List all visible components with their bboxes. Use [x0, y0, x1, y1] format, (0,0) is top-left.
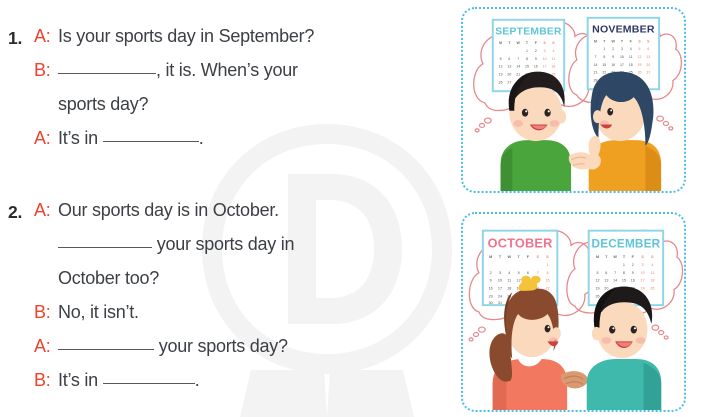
utterance-text: Our sports day is in October.: [58, 200, 279, 221]
illustration-panels: SEPTEMBER MTW TF SS 1234 567891011 12131…: [455, 0, 701, 417]
utterance-text: sports day?: [58, 94, 148, 115]
utterance-text: your sports day in: [58, 234, 294, 255]
svg-text:17: 17: [498, 286, 502, 290]
svg-text:15: 15: [622, 279, 626, 283]
utterance-text: No, it isn’t.: [58, 302, 139, 323]
svg-text:5: 5: [500, 57, 502, 61]
speaker-label: A:: [34, 200, 58, 221]
svg-text:M: M: [596, 255, 599, 259]
svg-text:23: 23: [489, 294, 493, 298]
svg-text:17: 17: [543, 65, 547, 69]
svg-text:27: 27: [507, 80, 511, 84]
svg-text:10: 10: [498, 279, 502, 283]
speaker-label: A:: [34, 26, 58, 47]
answer-blank[interactable]: [58, 349, 154, 350]
svg-text:13: 13: [507, 65, 511, 69]
svg-text:30: 30: [489, 301, 493, 305]
svg-text:17: 17: [620, 63, 624, 67]
svg-text:21: 21: [594, 71, 598, 75]
svg-text:24: 24: [498, 294, 502, 298]
svg-text:24: 24: [641, 286, 645, 290]
svg-text:1: 1: [546, 263, 548, 267]
illustration-panel-october-december: OCTOBER MTW TF SS 1 2345678 910111213141…: [461, 212, 686, 412]
svg-text:14: 14: [613, 279, 617, 283]
speaker-label: B:: [34, 302, 58, 323]
svg-text:10: 10: [543, 57, 547, 61]
svg-text:3: 3: [544, 49, 546, 53]
svg-text:31: 31: [498, 301, 502, 305]
svg-text:16: 16: [489, 286, 493, 290]
utterance-text: It’s in .: [58, 128, 203, 149]
svg-text:5: 5: [596, 271, 598, 275]
dialogue-line: your sports day in: [34, 234, 455, 268]
dialogue-lines: A: Is your sports day in September? B: ,…: [34, 26, 455, 162]
svg-text:21: 21: [516, 73, 520, 77]
svg-text:3: 3: [642, 263, 644, 267]
svg-text:8: 8: [546, 271, 548, 275]
svg-text:27: 27: [646, 71, 650, 75]
character-boy-teal: [587, 287, 661, 410]
svg-text:W: W: [613, 255, 617, 259]
answer-blank[interactable]: [58, 247, 152, 248]
svg-text:2: 2: [535, 49, 537, 53]
svg-text:20: 20: [646, 63, 650, 67]
svg-text:12: 12: [517, 279, 521, 283]
answer-blank[interactable]: [103, 383, 195, 384]
svg-text:12: 12: [499, 65, 503, 69]
svg-text:15: 15: [545, 279, 549, 283]
svg-text:10: 10: [620, 55, 624, 59]
dialogue-line: A: Is your sports day in September?: [34, 26, 455, 60]
svg-text:4: 4: [630, 47, 632, 51]
utterance-text: Is your sports day in September?: [58, 26, 314, 47]
svg-text:9: 9: [632, 271, 634, 275]
svg-text:20: 20: [507, 73, 511, 77]
svg-text:W: W: [508, 255, 512, 259]
svg-text:26: 26: [499, 80, 503, 84]
speaker-label: A:: [34, 128, 58, 149]
dialogue-line: B: , it is. When’s your: [34, 60, 455, 94]
svg-text:9: 9: [612, 55, 614, 59]
svg-text:26: 26: [595, 294, 599, 298]
svg-text:18: 18: [507, 286, 511, 290]
speaker-label: A:: [34, 336, 58, 357]
svg-text:NOVEMBER: NOVEMBER: [592, 23, 655, 35]
svg-text:10: 10: [641, 271, 645, 275]
dialogue-line: sports day?: [34, 94, 455, 128]
svg-text:25: 25: [650, 286, 654, 290]
svg-text:2: 2: [490, 271, 492, 275]
svg-text:15: 15: [525, 65, 529, 69]
svg-text:16: 16: [611, 63, 615, 67]
svg-text:28: 28: [594, 78, 598, 82]
svg-text:18: 18: [629, 63, 633, 67]
svg-text:20: 20: [604, 286, 608, 290]
svg-text:1: 1: [603, 47, 605, 51]
svg-text:11: 11: [507, 279, 511, 283]
svg-text:6: 6: [508, 57, 510, 61]
svg-text:16: 16: [534, 65, 538, 69]
svg-text:11: 11: [552, 57, 556, 61]
svg-text:2: 2: [612, 47, 614, 51]
dialogue-lines: A: Our sports day is in October. your sp…: [34, 200, 455, 404]
svg-text:14: 14: [516, 65, 520, 69]
svg-text:1: 1: [526, 49, 528, 53]
svg-text:8: 8: [526, 57, 528, 61]
svg-text:11: 11: [650, 271, 654, 275]
svg-text:3: 3: [621, 47, 623, 51]
svg-text:11: 11: [629, 55, 633, 59]
svg-text:OCTOBER: OCTOBER: [488, 235, 553, 250]
answer-blank[interactable]: [103, 141, 199, 142]
svg-text:DECEMBER: DECEMBER: [592, 237, 661, 250]
svg-text:7: 7: [614, 271, 616, 275]
exercise-number: 1.: [8, 28, 22, 49]
dialogue-line: B: It’s in .: [34, 370, 455, 404]
speaker-label: B:: [34, 60, 58, 81]
exercise-list: 1. A: Is your sports day in September? B…: [0, 0, 455, 417]
svg-text:26: 26: [638, 71, 642, 75]
svg-text:4: 4: [552, 49, 554, 53]
svg-text:17: 17: [641, 279, 645, 283]
answer-blank[interactable]: [58, 73, 156, 74]
exercise-item: 2. A: Our sports day is in October. your…: [0, 200, 455, 404]
svg-text:19: 19: [595, 286, 599, 290]
svg-text:13: 13: [646, 55, 650, 59]
dialogue-line: A: Our sports day is in October.: [34, 200, 455, 234]
svg-text:9: 9: [535, 57, 537, 61]
svg-text:5: 5: [639, 47, 641, 51]
svg-text:7: 7: [595, 55, 597, 59]
dialogue-line: B: No, it isn’t.: [34, 302, 455, 336]
svg-text:18: 18: [551, 65, 555, 69]
svg-text:4: 4: [508, 271, 510, 275]
character-boy-green: [501, 72, 594, 191]
svg-text:1: 1: [623, 263, 625, 267]
svg-text:M: M: [594, 39, 597, 43]
svg-text:22: 22: [602, 71, 606, 75]
svg-text:7: 7: [517, 57, 519, 61]
exercise-item: 1. A: Is your sports day in September? B…: [0, 26, 455, 162]
svg-text:8: 8: [623, 271, 625, 275]
svg-text:5: 5: [518, 271, 520, 275]
dialogue-line: A: your sports day?: [34, 336, 455, 370]
svg-text:4: 4: [651, 263, 653, 267]
svg-text:M: M: [489, 255, 492, 259]
svg-text:6: 6: [605, 271, 607, 275]
svg-text:19: 19: [499, 73, 503, 77]
svg-text:15: 15: [602, 63, 606, 67]
svg-text:9: 9: [490, 279, 492, 283]
svg-text:16: 16: [631, 279, 635, 283]
svg-text:22: 22: [545, 286, 549, 290]
svg-text:13: 13: [604, 279, 608, 283]
utterance-text: October too?: [58, 268, 159, 289]
utterance-text: It’s in .: [58, 370, 199, 391]
utterance-text: , it is. When’s your: [58, 60, 298, 81]
svg-text:18: 18: [650, 279, 654, 283]
svg-text:6: 6: [527, 271, 529, 275]
svg-text:SEPTEMBER: SEPTEMBER: [495, 26, 562, 37]
svg-text:14: 14: [594, 63, 598, 67]
svg-text:19: 19: [638, 63, 642, 67]
svg-text:7: 7: [537, 271, 539, 275]
dialogue-line: October too?: [34, 268, 455, 302]
speaker-label: B:: [34, 370, 58, 391]
dialogue-line: A: It’s in .: [34, 128, 455, 162]
svg-text:12: 12: [595, 279, 599, 283]
svg-text:8: 8: [603, 55, 605, 59]
svg-text:3: 3: [499, 271, 501, 275]
svg-text:2: 2: [632, 263, 634, 267]
illustration-panel-september-november: SEPTEMBER MTW TF SS 1234 567891011 12131…: [461, 7, 686, 193]
svg-text:12: 12: [638, 55, 642, 59]
exercise-number: 2.: [8, 202, 22, 223]
svg-text:6: 6: [647, 47, 649, 51]
utterance-text: your sports day?: [58, 336, 288, 357]
svg-text:M: M: [499, 41, 502, 45]
